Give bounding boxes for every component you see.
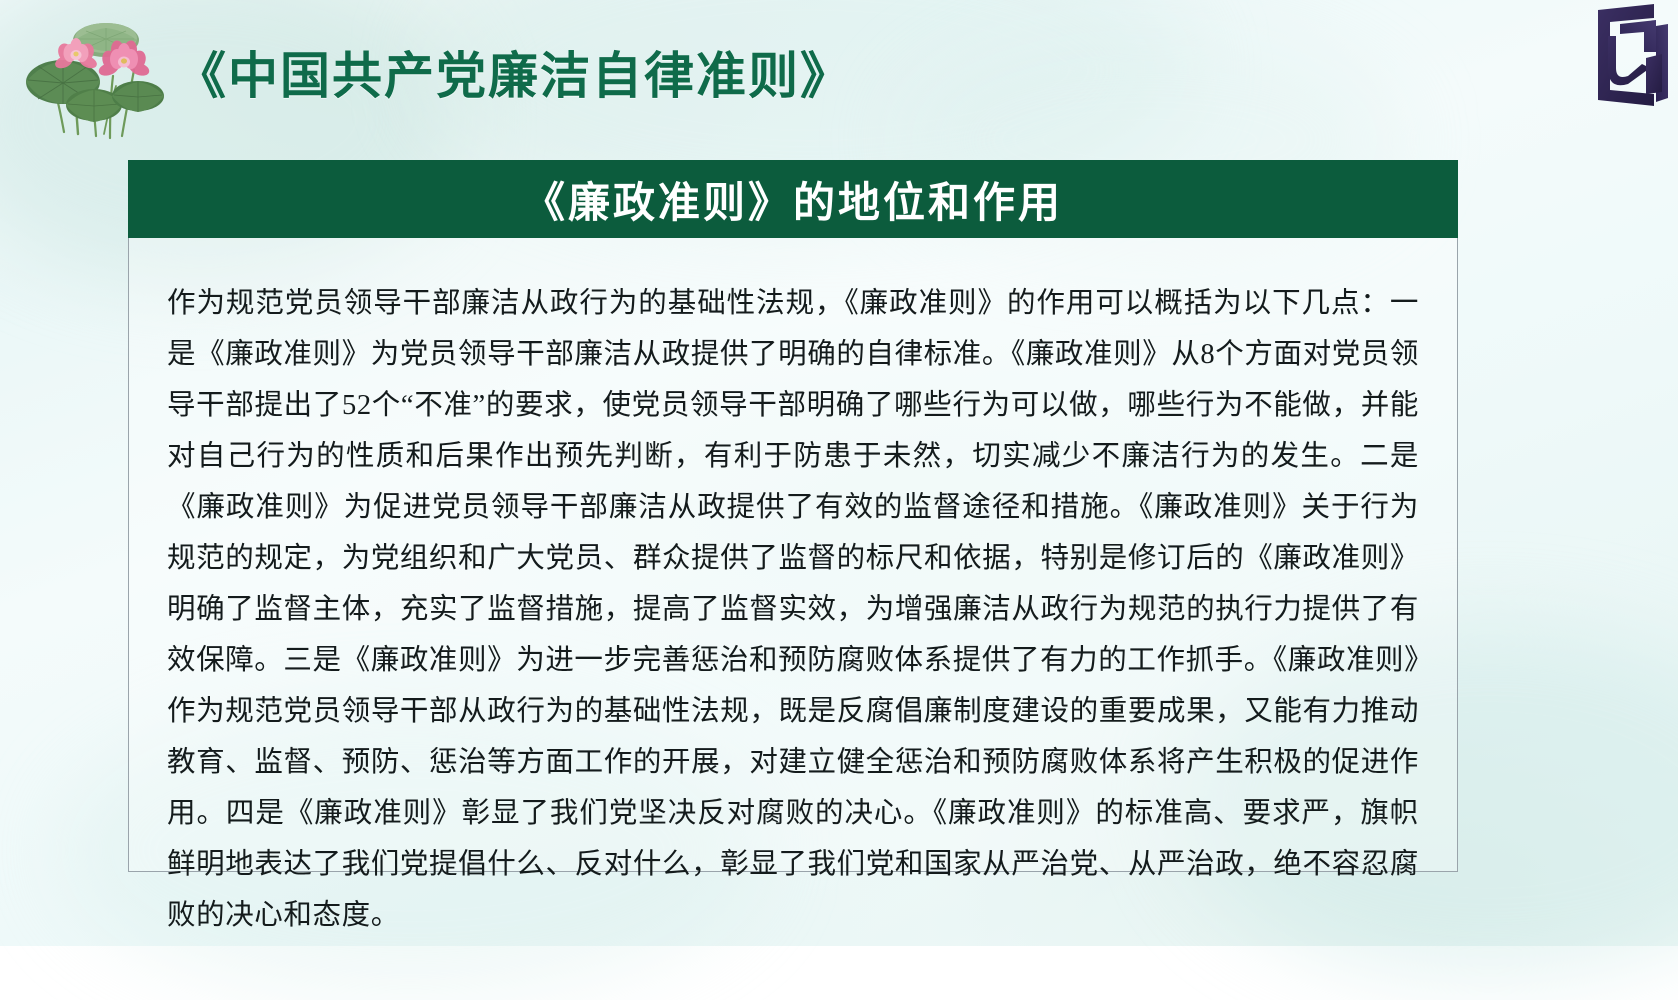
page-title: 《中国共产党廉洁自律准则》 <box>176 36 852 108</box>
body-paragraph: 作为规范党员领导干部廉洁从政行为的基础性法规，《廉政准则》的作用可以概括为以下几… <box>167 278 1419 941</box>
lotus-icon <box>18 6 166 142</box>
card-title: 《廉政准则》的地位和作用 <box>523 169 1063 230</box>
card-body: 作为规范党员领导干部廉洁从政行为的基础性法规，《廉政准则》的作用可以概括为以下几… <box>128 238 1458 872</box>
slide-root: 《中国共产党廉洁自律准则》 <box>0 0 1678 946</box>
content-card: 《廉政准则》的地位和作用 作为规范党员领导干部廉洁从政行为的基础性法规，《廉政准… <box>128 160 1458 872</box>
brand-logo-icon <box>1558 2 1670 114</box>
card-title-bar: 《廉政准则》的地位和作用 <box>128 160 1458 238</box>
slide-header: 《中国共产党廉洁自律准则》 <box>0 0 1678 150</box>
